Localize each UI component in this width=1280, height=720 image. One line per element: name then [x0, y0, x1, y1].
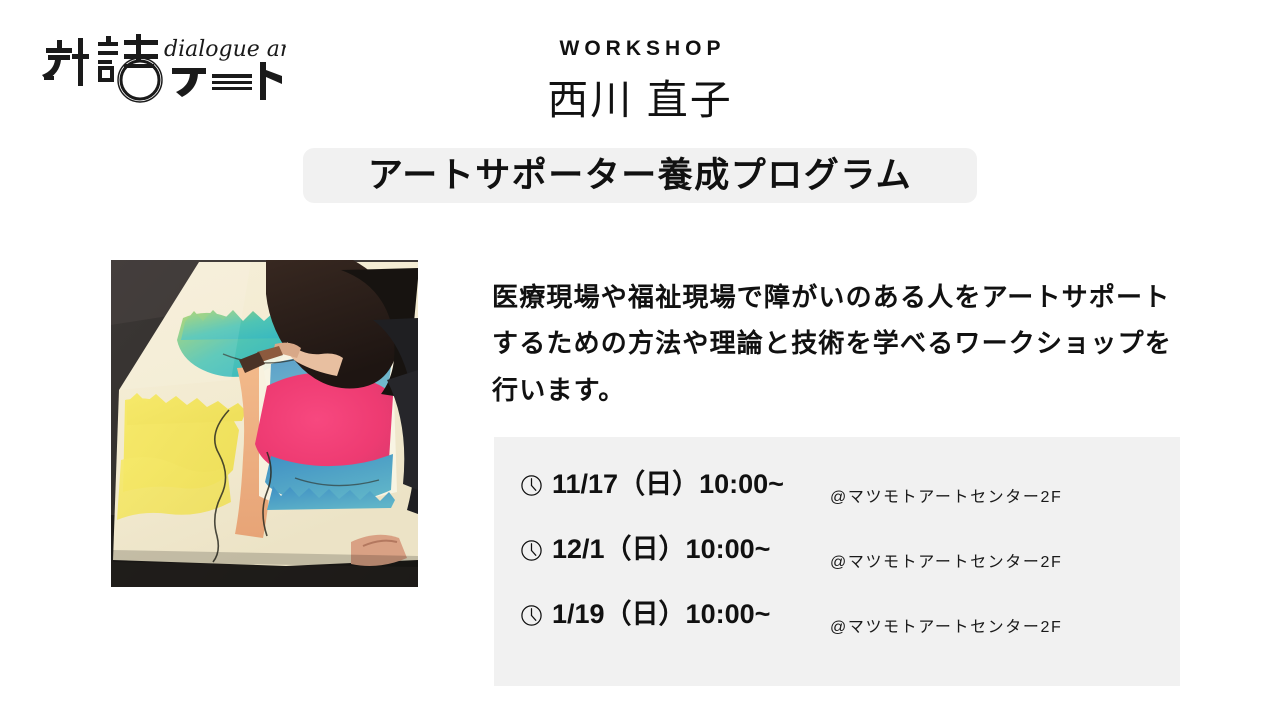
logo-artwork: dialogue art [36, 28, 286, 104]
schedule-date: 12/1（日）10:00~ [552, 536, 770, 563]
clock-icon [520, 539, 543, 562]
eyebrow-label: WORKSHOP [303, 38, 977, 59]
schedule-venue: @マツモトアートセンター2F [830, 555, 1062, 571]
svg-text:dialogue art: dialogue art [164, 37, 286, 62]
program-title-pill: アートサポーター養成プログラム [303, 148, 977, 203]
workshop-photo-image [111, 260, 418, 587]
schedule-venue: @マツモトアートセンター2F [830, 620, 1062, 636]
schedule-row-datetime: 1/19（日）10:00~ [520, 601, 830, 628]
schedule-row: 12/1（日）10:00~ @マツモトアートセンター2F [494, 536, 1180, 601]
clock-icon [520, 604, 543, 627]
schedule-row: 1/19（日）10:00~ @マツモトアートセンター2F [494, 601, 1180, 666]
workshop-description: 医療現場や福祉現場で障がいのある人をアートサポートするための方法や理論と技術を学… [492, 274, 1182, 413]
schedule-panel: 11/17（日）10:00~ @マツモトアートセンター2F 12/1（日）10:… [494, 437, 1180, 686]
presenter-name: 西川 直子 [303, 77, 977, 124]
clock-icon [520, 474, 543, 497]
workshop-photo [111, 260, 418, 587]
program-title-text: アートサポーター養成プログラム [368, 158, 912, 193]
schedule-row: 11/17（日）10:00~ @マツモトアートセンター2F [494, 471, 1180, 536]
schedule-row-datetime: 11/17（日）10:00~ [520, 471, 830, 498]
schedule-venue: @マツモトアートセンター2F [830, 490, 1062, 506]
schedule-date: 1/19（日）10:00~ [552, 601, 770, 628]
schedule-date: 11/17（日）10:00~ [552, 471, 784, 498]
header-block: WORKSHOP 西川 直子 [303, 38, 977, 124]
dialogue-art-logo: dialogue art [36, 28, 286, 104]
schedule-row-datetime: 12/1（日）10:00~ [520, 536, 830, 563]
